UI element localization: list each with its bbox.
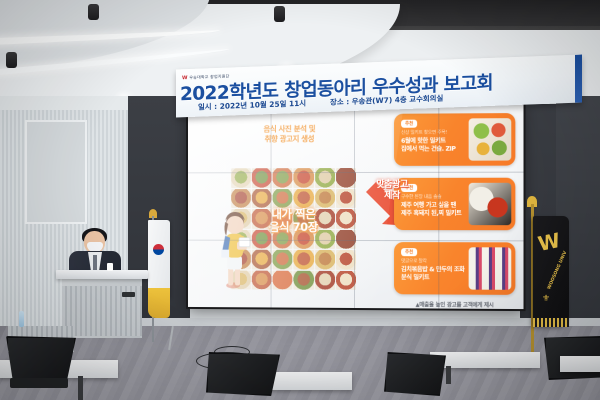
card-thumbnail [469, 247, 512, 290]
university-flag-symbol: ⚜ [542, 294, 550, 304]
table-leg [446, 366, 451, 384]
university-flag-fringe [533, 318, 569, 327]
food-photo-tile [315, 168, 335, 187]
slide-arrow-label: 맞춤광고제작 [360, 180, 424, 202]
video-wall-bezel-v [271, 105, 272, 308]
water-bottle [19, 311, 24, 327]
ceiling-spotlight-1 [6, 52, 17, 68]
podium-top-surface [56, 270, 148, 279]
chair[interactable] [206, 352, 276, 400]
food-photo-tile [315, 250, 335, 270]
food-photo-tile [231, 189, 251, 208]
food-photo-tile [315, 189, 335, 208]
wall-baseboard [128, 318, 600, 326]
food-photo-tile [273, 168, 293, 187]
card-subtitle: 신상 밀키트 찾으면 주목! [401, 130, 447, 136]
food-photo-tile [336, 250, 356, 270]
korean-flag-taeguk [153, 244, 164, 255]
chair-backrest [6, 336, 76, 384]
food-photo-tile [252, 250, 272, 269]
recommendation-card[interactable]: 추천 댓글으로 찰칵 김치볶음밥 & 만두의 조화분식 밀키트 [394, 242, 515, 295]
illustration-girl [219, 212, 252, 290]
paper-cup [107, 263, 113, 271]
university-flag-wordmark: WOOSONG UNIV [547, 251, 568, 291]
podium-panel-slot [122, 292, 135, 297]
food-photo-tile [336, 188, 356, 208]
university-flag: W WOOSONG UNIV ⚜ [533, 216, 569, 326]
food-photo-tile [252, 189, 272, 208]
chair-backrest [206, 352, 280, 396]
conference-table [560, 356, 600, 372]
food-photo-tile [336, 168, 356, 188]
recommendation-card-list: 추천 신상 밀키트 찾으면 주목! 6월에 핫한 밀키트집에서 먹는 건슬. Z… [394, 113, 515, 297]
video-wall[interactable]: 음식 사진 분석 및취향 광고지 생성 내가 찍은음식 70장 맞춤광고제작 [188, 103, 524, 309]
ceiling-spotlight-3 [274, 6, 285, 22]
card-tag-badge: 추천 [401, 248, 417, 256]
food-photo-tile [294, 250, 314, 270]
table-leg [78, 376, 83, 400]
card-tag-badge: 추천 [401, 120, 417, 128]
food-photo-tile [315, 270, 335, 290]
food-photo-tile [273, 270, 293, 290]
food-photo-tile [294, 168, 314, 187]
slide-headline: 음식 사진 분석 및취향 광고지 생성 [215, 124, 364, 145]
video-wall-bezel-v [354, 104, 355, 308]
card-thumbnail [469, 118, 512, 161]
card-thumbnail [469, 183, 512, 225]
wall-recessed-panel [25, 120, 87, 224]
food-photo-tile [231, 168, 251, 187]
korean-flag-lower-gold [148, 288, 170, 318]
food-photo-tile [294, 189, 314, 208]
chair[interactable] [384, 352, 442, 400]
conference-photo: 음식 사진 분석 및취향 광고지 생성 내가 찍은음식 70장 맞춤광고제작 [0, 0, 600, 400]
banner-edge-stripe [575, 55, 582, 103]
chair[interactable] [6, 336, 72, 398]
food-photo-tile [294, 270, 314, 290]
video-wall-bezel-v [438, 103, 439, 308]
food-photo-tile [273, 250, 293, 269]
slide-footer-note: ▲매출을 높인 광고를 고객에게 제시 [386, 300, 523, 309]
university-flag-emblem-w: W [536, 228, 563, 256]
card-subtitle: 댓글으로 찰칵 [401, 258, 427, 264]
recommendation-card[interactable]: 추천 신상 밀키트 찾으면 주목! 6월에 핫한 밀키트집에서 먹는 건슬. Z… [394, 113, 515, 166]
korean-flag [148, 220, 170, 298]
food-photo-tile [336, 270, 356, 290]
chair-backrest [384, 352, 446, 396]
ceiling-spotlight-2 [88, 4, 99, 20]
wall-left-top-trim [0, 96, 128, 110]
food-photo-tile [273, 189, 293, 208]
food-photo-tile [252, 168, 272, 187]
food-photo-tile [252, 270, 272, 289]
chair-seat [10, 378, 68, 388]
